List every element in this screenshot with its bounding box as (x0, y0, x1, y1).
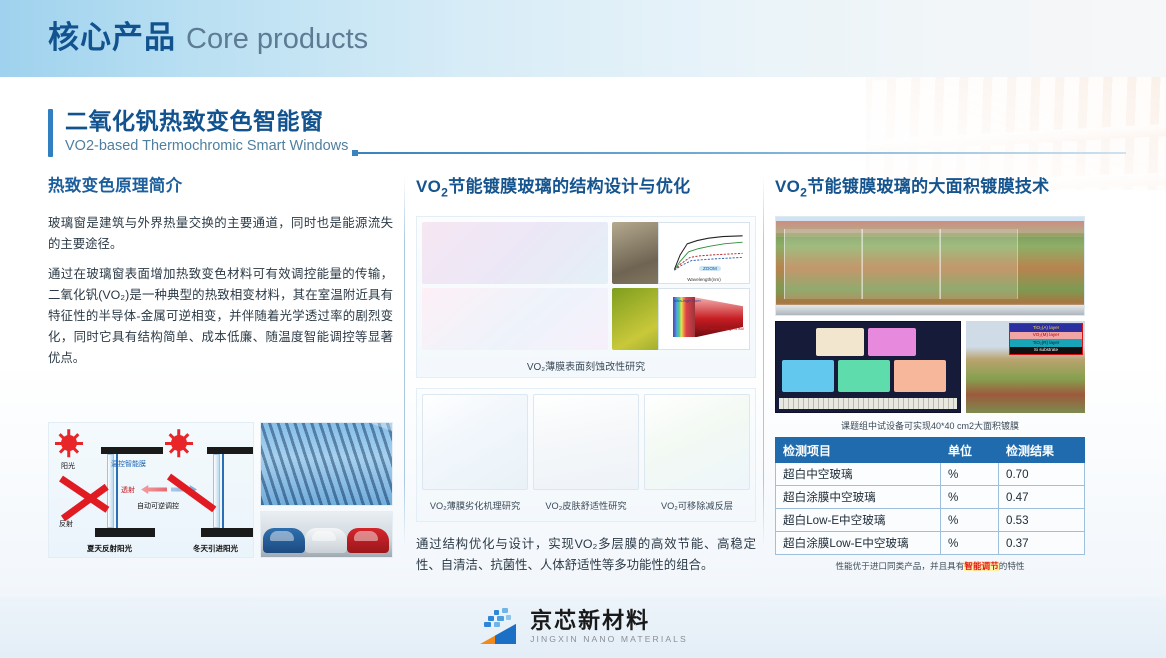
cars-photo (260, 511, 393, 558)
table-header-result: 检测结果 (999, 438, 1085, 463)
chart-xaxis-label: Wavelength(nm) (659, 277, 749, 282)
label-large-dtsol: large ΔTsol (725, 327, 744, 331)
cell-item: 超白Low-E中空玻璃 (776, 509, 941, 532)
trio-images (417, 389, 755, 495)
figure-etching: ZOOM Wavelength(nm) ultra-high Tlum LSPR… (416, 216, 756, 378)
campus-photo-with-stack-legend: TiO₂(A) layer VO₂(M) layer TiO₂(R) layer… (966, 321, 1085, 413)
header-title: 核心产品Core products (48, 14, 368, 63)
layer-tio2-r: TiO₂(R) layer (1010, 339, 1082, 346)
layer-si-substrate: Si substrate (1010, 347, 1082, 354)
glass-building-photo (260, 422, 393, 506)
solar-spectrum-image (533, 394, 639, 490)
column-divider-1 (404, 176, 405, 548)
test-results-table: 检测项目 单位 检测结果 超白中空玻璃 % 0.70 超白涂膜中空玻璃 % 0.… (775, 437, 1085, 555)
figure-trio: VO₂薄膜劣化机理研究 VO₂皮肤舒适性研究 VO₂可移除减反层 (416, 388, 756, 522)
heading-rest-right: 节能镀膜玻璃的大面积镀膜技术 (807, 177, 1049, 196)
cell-unit: % (941, 532, 999, 555)
cell-unit: % (941, 486, 999, 509)
heading-prefix-right: VO (775, 177, 800, 196)
table-row: 超白中空玻璃 % 0.70 (776, 463, 1085, 486)
column-principle: 热致变色原理简介 玻璃窗是建筑与外界热量交换的主要通道，同时也是能源流失的主要途… (48, 172, 393, 378)
table-header-unit: 单位 (941, 438, 999, 463)
ruler-icon (779, 398, 957, 409)
column-large-area-coating: VO2节能镀膜玻璃的大面积镀膜技术 TiO₂(A) layer VO₂(M) l… (775, 172, 1085, 572)
cell-result: 0.47 (999, 486, 1085, 509)
header-title-cn: 核心产品 (48, 20, 176, 55)
panel-process-flow (422, 288, 608, 350)
transmittance-spectra-chart: ZOOM Wavelength(nm) (658, 222, 750, 284)
cell-unit: % (941, 509, 999, 532)
samples-and-stack: TiO₂(A) layer VO₂(M) layer TiO₂(R) layer… (775, 321, 1085, 413)
caption-summer: 夏天反射阳光 (87, 543, 132, 554)
label-transmit: 透射 (121, 485, 135, 495)
cell-result: 0.70 (999, 463, 1085, 486)
section-title-en: VO2-based Thermochromic Smart Windows (65, 136, 348, 156)
table-row: 超白涂膜Low-E中空玻璃 % 0.37 (776, 532, 1085, 555)
slide-footer: 京芯新材料 JINGXIN NANO MATERIALS (0, 596, 1166, 658)
figure-etching-caption: VO₂薄膜表面刻蚀改性研究 (417, 355, 755, 377)
label-auto-reversible: 自动可逆调控 (137, 501, 179, 511)
zoom-badge: ZOOM (699, 266, 721, 271)
column-heading-coating: VO2节能镀膜玻璃的大面积镀膜技术 (775, 172, 1085, 199)
label-sunlight-summer: 阳光 (61, 461, 75, 471)
principle-paragraph-2: 通过在玻璃窗表面增加热致变色材料可有效调控能量的传输，二氧化钒(VO₂)是一种典… (48, 264, 393, 369)
table-note-prefix: 性能优于进口同类产品，并且具有 (835, 561, 964, 571)
trio-caption-2: VO₂皮肤舒适性研究 (533, 495, 639, 516)
principle-paragraph-1: 玻璃窗是建筑与外界热量交换的主要通道，同时也是能源流失的主要途径。 (48, 213, 393, 255)
column-divider-2 (763, 176, 764, 548)
table-row: 超白涂膜中空玻璃 % 0.47 (776, 486, 1085, 509)
trio-caption-3: VO₂可移除减反层 (644, 495, 750, 516)
slide-root: 核心产品Core products 二氧化钒热致变色智能窗 VO2-based … (0, 0, 1166, 658)
cell-unit: % (941, 463, 999, 486)
column-heading-structure: VO2节能镀膜玻璃的结构设计与优化 (416, 172, 756, 199)
cell-item: 超白涂膜中空玻璃 (776, 486, 941, 509)
sun-icon-summer (61, 435, 77, 451)
cell-result: 0.53 (999, 509, 1085, 532)
sun-icon-winter (171, 435, 187, 451)
layer-vo2-m: VO₂(M) layer (1010, 332, 1082, 339)
header-title-en: Core products (186, 23, 368, 55)
layer-tio2-a: TiO₂(A) layer (1010, 324, 1082, 331)
trio-cell-2 (533, 394, 639, 490)
trio-captions: VO₂薄膜劣化机理研究 VO₂皮肤舒适性研究 VO₂可移除减反层 (417, 495, 755, 521)
section-accent-bar (48, 109, 53, 157)
panel-synthesis-route (422, 222, 608, 284)
table-header-item: 检测项目 (776, 438, 941, 463)
slide-header: 核心产品Core products (0, 0, 1166, 77)
table-note-suffix: 的特性 (999, 561, 1025, 571)
caption-winter: 冬天引进阳光 (193, 543, 238, 554)
table-note-highlight: 智能调节 (964, 561, 998, 571)
column-structure-design: VO2节能镀膜玻璃的结构设计与优化 (416, 172, 756, 585)
label-ultra-high-tlum: ultra-high Tlum (674, 298, 701, 303)
smart-window-diagram: 阳光 温控智能膜 透射 反射 夏天反射阳光 自动可逆调控 冬天引进阳光 (48, 422, 254, 558)
coating-photo-caption: 课题组中试设备可实现40*40 cm2大面积镀膜 (775, 413, 1085, 437)
company-name-cn: 京芯新材料 (530, 609, 688, 633)
heading-rest: 节能镀膜玻璃的结构设计与优化 (448, 177, 690, 196)
antireflection-layer-image (644, 394, 750, 490)
table-header-row: 检测项目 单位 检测结果 (776, 438, 1085, 463)
company-name: 京芯新材料 JINGXIN NANO MATERIALS (530, 609, 688, 645)
layer-stack-legend: TiO₂(A) layer VO₂(M) layer TiO₂(R) layer… (1009, 323, 1083, 355)
structure-summary: 通过结构优化与设计，实现VO₂多层膜的高效节能、高稳定性、自清洁、抗菌性、人体舒… (416, 534, 756, 576)
section-title: 二氧化钒热致变色智能窗 VO2-based Thermochromic Smar… (48, 106, 348, 156)
table-row: 超白Low-E中空玻璃 % 0.53 (776, 509, 1085, 532)
cell-item: 超白涂膜Low-E中空玻璃 (776, 532, 941, 555)
coated-glass-landscape-photo (775, 216, 1085, 316)
principle-figures: 阳光 温控智能膜 透射 反射 夏天反射阳光 自动可逆调控 冬天引进阳光 (48, 422, 393, 558)
trio-cell-3 (644, 394, 750, 490)
section-title-cn: 二氧化钒热致变色智能窗 (65, 106, 348, 136)
label-lspr: LSPR absorption (699, 327, 728, 331)
cell-result: 0.37 (999, 532, 1085, 555)
heading-prefix: VO (416, 177, 441, 196)
company-logo-icon (478, 608, 520, 646)
etching-charts: ZOOM Wavelength(nm) ultra-high Tlum LSPR… (658, 222, 750, 350)
company-name-en: JINGXIN NANO MATERIALS (530, 633, 688, 645)
table-note: 性能优于进口同类产品，并且具有智能调节的特性 (775, 555, 1085, 572)
cell-item: 超白中空玻璃 (776, 463, 941, 486)
principle-photos (260, 422, 393, 558)
lspr-absorption-chart: ultra-high Tlum LSPR absorption large ΔT… (658, 288, 750, 350)
column-heading-principle: 热致变色原理简介 (48, 172, 393, 196)
section-title-rule (358, 152, 1126, 154)
trio-cell-1 (422, 394, 528, 490)
trio-caption-1: VO₂薄膜劣化机理研究 (422, 495, 528, 516)
label-reflect: 反射 (59, 519, 73, 529)
degradation-mechanism-image (422, 394, 528, 490)
colored-samples-photo (775, 321, 961, 413)
label-smart-film: 温控智能膜 (111, 459, 146, 469)
